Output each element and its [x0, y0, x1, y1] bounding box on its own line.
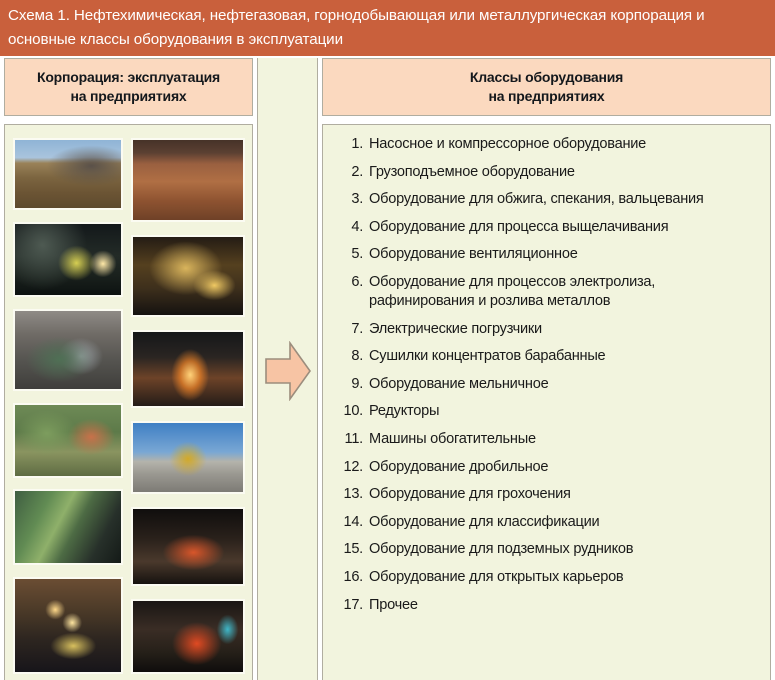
- equipment-class-label: Оборудование для классификации: [369, 513, 770, 532]
- photo-excavator-loading-haul-truck: [13, 138, 123, 210]
- equipment-class-item: 5.Оборудование вентиляционное: [337, 245, 770, 264]
- photo-green-ball-mill-gearbox-assembly: [13, 403, 123, 478]
- equipment-class-label: Грузоподъемное оборудование: [369, 163, 770, 182]
- figure-title: Схема 1. Нефтехимическая, нефтегазовая, …: [8, 4, 767, 52]
- photo-orange-underground-lhd-machine: [131, 507, 245, 586]
- equipment-class-label: Оборудование для обжига, спекания, вальц…: [369, 190, 770, 209]
- equipment-class-label: Машины обогатительные: [369, 430, 770, 449]
- left-column-header-label: Корпорация: эксплуатация на предприятиях: [37, 68, 220, 106]
- equipment-class-number: 12.: [337, 458, 369, 477]
- equipment-class-number: 1.: [337, 135, 369, 154]
- equipment-class-number: 10.: [337, 402, 369, 421]
- equipment-class-label: Сушилки концентратов барабанные: [369, 347, 770, 366]
- equipment-class-item: 11.Машины обогатительные: [337, 430, 770, 449]
- photo-grid: [5, 125, 252, 679]
- equipment-class-number: 5.: [337, 245, 369, 264]
- equipment-class-item: 8.Сушилки концентратов барабанные: [337, 347, 770, 366]
- photo-rotary-mill-drum-industrial: [13, 309, 123, 391]
- equipment-class-label: Оборудование для грохочения: [369, 485, 770, 504]
- equipment-class-number: 4.: [337, 218, 369, 237]
- equipment-class-number: 17.: [337, 596, 369, 615]
- equipment-class-label: Оборудование для подземных рудников: [369, 540, 770, 559]
- equipment-class-item: 10.Редукторы: [337, 402, 770, 421]
- equipment-class-item: 17.Прочее: [337, 596, 770, 615]
- equipment-class-item: 16.Оборудование для открытых карьеров: [337, 568, 770, 587]
- figure-title-bar: Схема 1. Нефтехимическая, нефтегазовая, …: [0, 0, 775, 56]
- left-panel: [4, 124, 253, 680]
- equipment-class-item: 12.Оборудование дробильное: [337, 458, 770, 477]
- photo-copper-cathode-stacks-warehouse: [131, 138, 245, 222]
- equipment-class-number: 6.: [337, 273, 369, 292]
- flow-arrow-icon: [264, 341, 312, 401]
- photo-red-drilling-jumbo-underground: [131, 599, 245, 674]
- equipment-class-item: 1.Насосное и компрессорное оборудование: [337, 135, 770, 154]
- equipment-class-label: Электрические погрузчики: [369, 320, 770, 339]
- equipment-class-item: 4.Оборудование для процесса выщелачивани…: [337, 218, 770, 237]
- equipment-class-number: 11.: [337, 430, 369, 449]
- equipment-class-item: 14.Оборудование для классификации: [337, 513, 770, 532]
- equipment-class-label: Редукторы: [369, 402, 770, 421]
- equipment-class-number: 8.: [337, 347, 369, 366]
- equipment-class-item: 13.Оборудование для грохочения: [337, 485, 770, 504]
- equipment-class-number: 13.: [337, 485, 369, 504]
- equipment-class-label: Оборудование для процессов электролиза, …: [369, 273, 770, 311]
- equipment-class-item: 7.Электрические погрузчики: [337, 320, 770, 339]
- equipment-class-label: Оборудование вентиляционное: [369, 245, 770, 264]
- photo-underground-mining-drill-rig: [13, 222, 123, 297]
- photo-molten-metal-pouring-ladle: [131, 330, 245, 408]
- equipment-class-number: 3.: [337, 190, 369, 209]
- equipment-class-label: Оборудование для открытых карьеров: [369, 568, 770, 587]
- equipment-class-label: Оборудование дробильное: [369, 458, 770, 477]
- equipment-class-number: 9.: [337, 375, 369, 394]
- equipment-class-label: Оборудование для процесса выщелачивания: [369, 218, 770, 237]
- photo-green-conveyor-belt-rollers: [13, 489, 123, 565]
- equipment-class-item: 3.Оборудование для обжига, спекания, вал…: [337, 190, 770, 209]
- left-column-header: Корпорация: эксплуатация на предприятиях: [4, 58, 253, 116]
- equipment-class-item: 2.Грузоподъемное оборудование: [337, 163, 770, 182]
- equipment-classes-list: 1.Насосное и компрессорное оборудование2…: [323, 125, 770, 623]
- equipment-class-item: 9.Оборудование мельничное: [337, 375, 770, 394]
- connector-strip: [257, 58, 318, 680]
- photo-open-pit-rope-shovel-excavator: [131, 421, 245, 494]
- right-panel: 1.Насосное и компрессорное оборудование2…: [322, 124, 771, 680]
- equipment-class-number: 7.: [337, 320, 369, 339]
- photo-underground-loader-headlights: [13, 577, 123, 674]
- equipment-class-item: 6.Оборудование для процессов электролиза…: [337, 273, 770, 311]
- equipment-class-number: 14.: [337, 513, 369, 532]
- equipment-class-label: Прочее: [369, 596, 770, 615]
- equipment-class-label: Оборудование мельничное: [369, 375, 770, 394]
- equipment-class-label: Насосное и компрессорное оборудование: [369, 135, 770, 154]
- equipment-class-number: 2.: [337, 163, 369, 182]
- right-column-header-label: Классы оборудования на предприятиях: [470, 68, 623, 106]
- equipment-class-number: 15.: [337, 540, 369, 559]
- right-column-header: Классы оборудования на предприятиях: [322, 58, 771, 116]
- equipment-class-item: 15.Оборудование для подземных рудников: [337, 540, 770, 559]
- equipment-class-number: 16.: [337, 568, 369, 587]
- photo-underground-lhd-loader-tunnel: [131, 235, 245, 317]
